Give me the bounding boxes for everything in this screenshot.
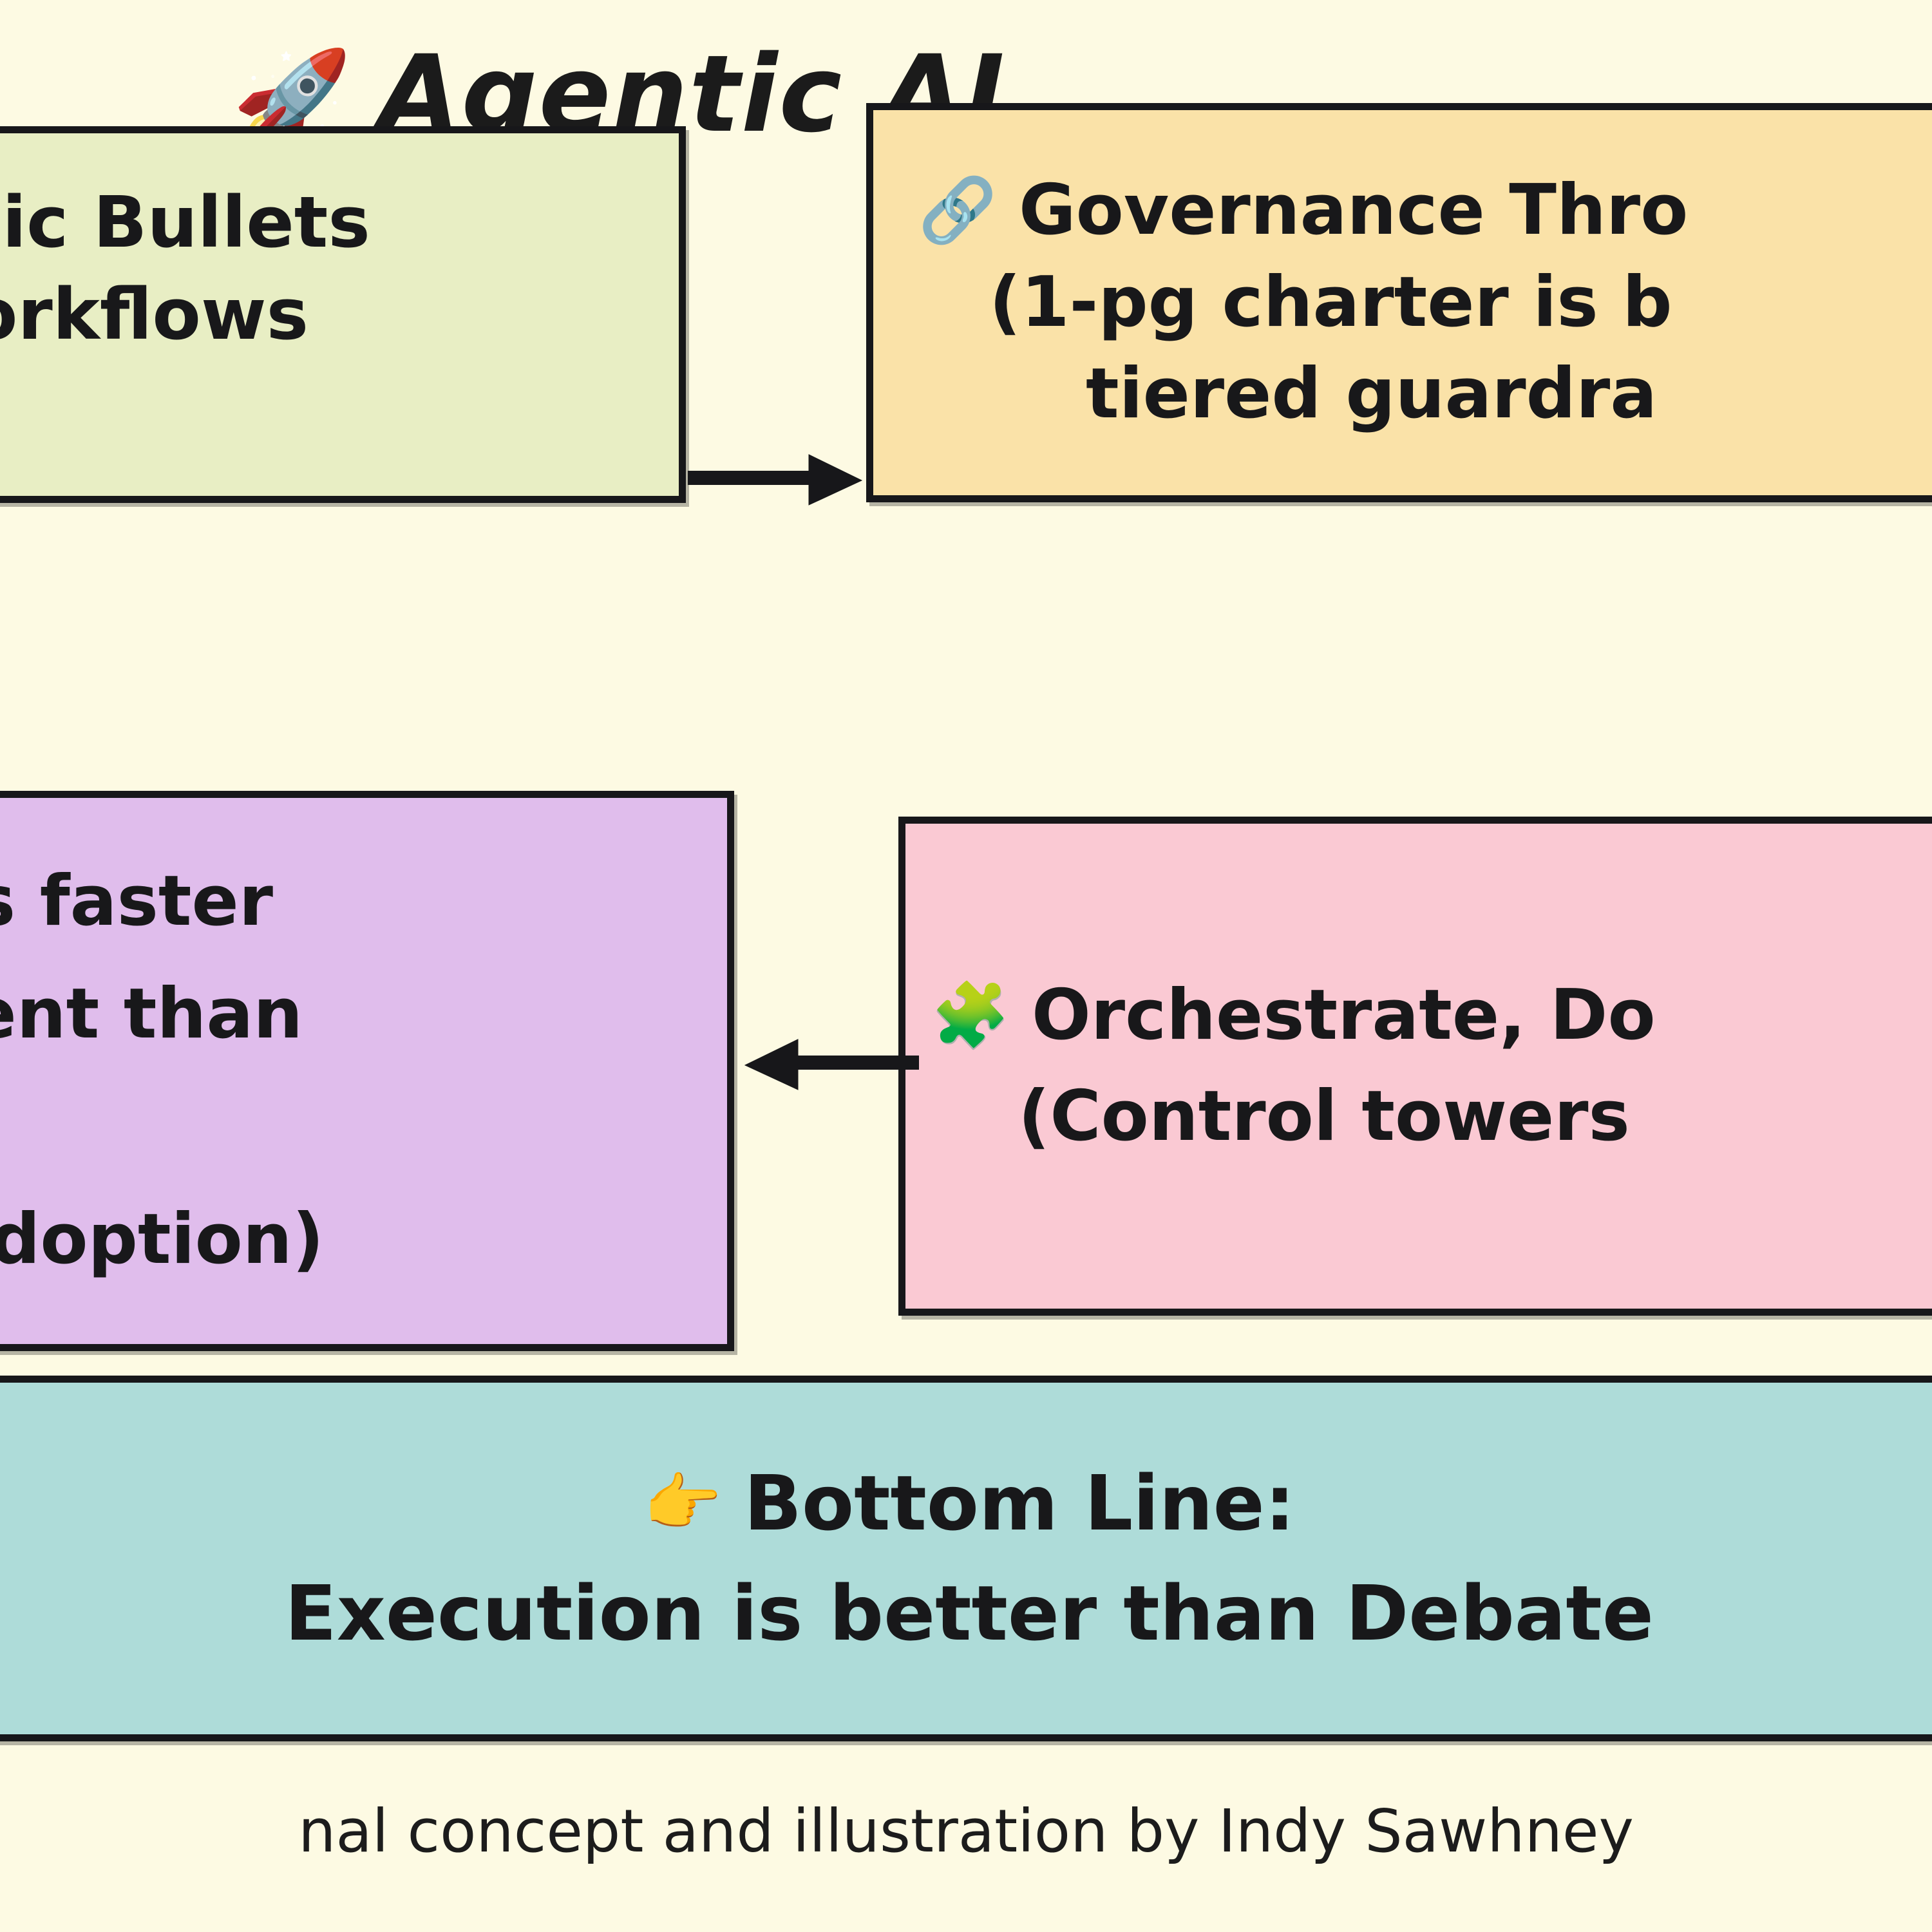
pointing-right-emoji: 👉 — [643, 1472, 722, 1535]
diagram-canvas: 🚀 Agentic AI Magic Bullets x workflows s… — [0, 0, 1932, 1932]
bottom-line-headline: 👉 Bottom Line: — [643, 1448, 1295, 1558]
arrow-pink-to-purple — [731, 1005, 924, 1121]
orchestrate-headline: 🧩 Orchestrate, Do — [905, 965, 1656, 1066]
link-emoji: 🔗 — [918, 179, 997, 242]
magic-bullets-box[interactable]: Magic Bullets x workflows st) — [0, 126, 686, 503]
bottom-line-statement: Execution is better than Debate — [285, 1558, 1654, 1669]
bottom-line-box[interactable]: 👉 Bottom Line: Execution is better than … — [0, 1376, 1932, 1741]
shipping-faster-box[interactable]: ng is faster fficient than ring ve adopt… — [0, 791, 734, 1351]
orchestrate-box[interactable]: 🧩 Orchestrate, Do (Control towers — [898, 817, 1932, 1316]
orchestrate-headline-text: Orchestrate, Do — [1032, 965, 1656, 1066]
arrow-green-to-yellow — [683, 425, 876, 541]
footer-credit: nal concept and illustration by Indy Saw… — [0, 1797, 1932, 1866]
puzzle-piece-emoji: 🧩 — [931, 984, 1010, 1047]
governance-headline-text: Governance Thro — [1019, 165, 1688, 257]
governance-headline: 🔗 Governance Thro — [873, 165, 1688, 257]
magic-bullets-line-2: x workflows — [0, 269, 308, 361]
governance-line-3: tiered guardra — [873, 348, 1657, 440]
magic-bullets-line-1: Magic Bullets — [0, 176, 370, 269]
shipping-line-4: ve adoption) — [0, 1184, 324, 1296]
governance-line-2: (1-pg charter is b — [873, 257, 1672, 349]
shipping-line-2: fficient than — [0, 958, 303, 1071]
governance-throughput-box[interactable]: 🔗 Governance Thro (1-pg charter is b tie… — [866, 103, 1932, 502]
orchestrate-line-2: (Control towers — [905, 1066, 1630, 1168]
bottom-line-label: Bottom Line: — [744, 1448, 1295, 1558]
shipping-line-1: ng is faster — [0, 846, 273, 958]
